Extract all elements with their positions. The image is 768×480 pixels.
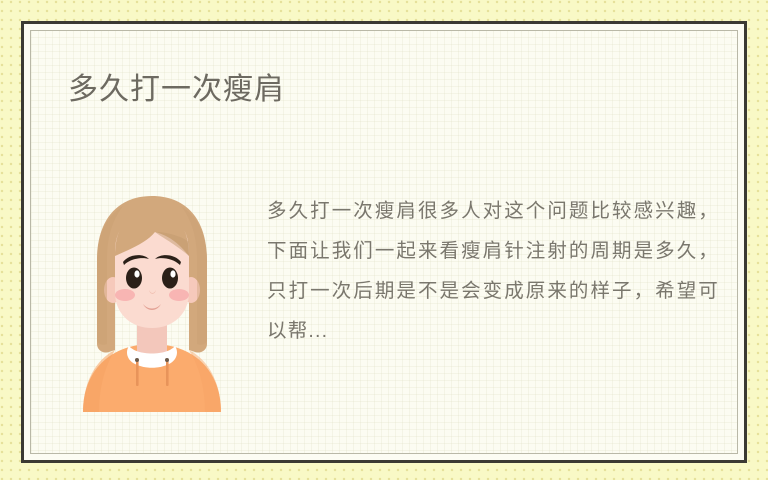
eye-right xyxy=(162,268,178,289)
article-excerpt: 多久打一次瘦肩很多人对这个问题比较感兴趣，下面让我们一起来看瘦肩针注射的周期是多… xyxy=(267,191,719,351)
eye-right-highlight xyxy=(170,270,175,277)
drawstring-eyelet-right xyxy=(165,358,169,362)
blush-right xyxy=(169,289,189,301)
drawstring-left xyxy=(136,360,139,386)
eye-left xyxy=(126,268,142,289)
avatar xyxy=(71,194,233,412)
avatar-illustration-icon xyxy=(71,194,233,412)
article-card-frame: 多久打一次瘦肩 xyxy=(21,21,747,463)
article-content-row: 多久打一次瘦肩很多人对这个问题比较感兴趣，下面让我们一起来看瘦肩针注射的周期是多… xyxy=(31,191,737,412)
page-background: 多久打一次瘦肩 xyxy=(0,0,768,480)
eye-left-highlight xyxy=(134,270,139,277)
page-title: 多久打一次瘦肩 xyxy=(68,71,285,109)
article-card: 多久打一次瘦肩 xyxy=(30,30,738,454)
drawstring-eyelet-left xyxy=(135,358,139,362)
blush-left xyxy=(115,289,135,301)
drawstring-right xyxy=(166,360,169,386)
